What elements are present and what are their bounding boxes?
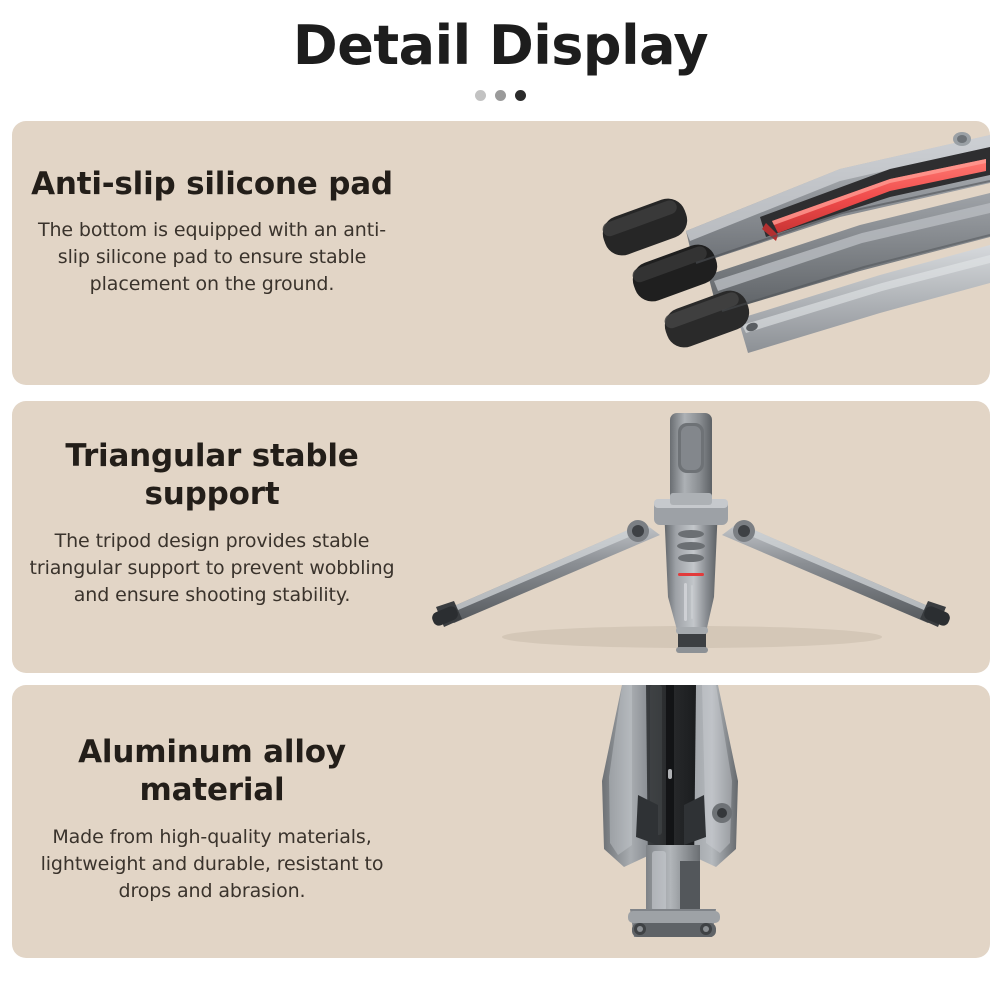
pagination-dot-3[interactable] [515,90,526,101]
card-text-block: Anti-slip silicone pad The bottom is equ… [12,165,412,298]
page-title: Detail Display [0,18,1001,75]
feature-card-aluminum-alloy-material: Aluminum alloy material Made from high-q… [12,685,990,958]
pagination-dot-2[interactable] [495,90,506,101]
folded-tripod-legs-image [590,121,990,385]
card-body-text: Made from high-quality materials, lightw… [28,824,396,905]
card-heading: Triangular stable support [28,437,396,514]
card-text-block: Triangular stable support The tripod des… [12,437,412,609]
page-header: Detail Display [0,0,1001,103]
feature-card-triangular-stable-support: Triangular stable support The tripod des… [12,401,990,673]
tripod-splayed-legs-image [392,401,990,673]
card-heading: Anti-slip silicone pad [28,165,396,203]
pagination-dot-1[interactable] [475,90,486,101]
feature-card-anti-slip-silicone-pad: Anti-slip silicone pad The bottom is equ… [12,121,990,385]
card-text-block: Aluminum alloy material Made from high-q… [12,733,412,905]
card-heading: Aluminum alloy material [28,733,396,810]
card-body-text: The tripod design provides stable triang… [28,528,396,609]
card-body-text: The bottom is equipped with an anti-slip… [28,217,396,298]
pagination-dots [0,89,1001,103]
